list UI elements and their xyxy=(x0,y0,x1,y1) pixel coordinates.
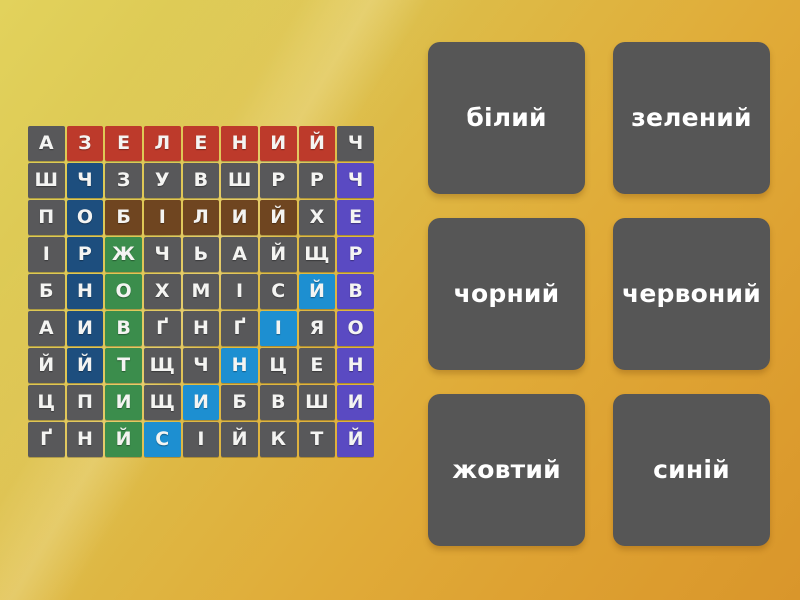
grid-cell-letter: О xyxy=(347,319,363,338)
grid-cell[interactable]: Й xyxy=(28,348,65,383)
grid-cell-letter: І xyxy=(159,208,166,227)
grid-cell[interactable]: Х xyxy=(144,274,181,309)
grid-cell[interactable]: В xyxy=(337,274,374,309)
grid-cell-letter: Ґ xyxy=(156,319,168,338)
grid-cell-letter: Щ xyxy=(150,356,175,375)
grid-cell-letter: Т xyxy=(310,430,323,449)
grid-cell-letter: Й xyxy=(309,282,325,301)
grid-cell-letter: Р xyxy=(349,245,363,264)
grid-cell[interactable]: Ч xyxy=(67,163,104,198)
grid-cell-letter: Р xyxy=(78,245,92,264)
grid-cell-letter: Л xyxy=(154,134,170,153)
grid-cell[interactable]: Я xyxy=(299,311,336,346)
grid-cell[interactable]: Н xyxy=(221,348,258,383)
grid-cell[interactable]: Й xyxy=(67,348,104,383)
word-card-label: чорний xyxy=(454,280,560,308)
grid-cell[interactable]: Б xyxy=(105,200,142,235)
grid-cell-letter: Ш xyxy=(305,393,329,412)
grid-cell-letter: А xyxy=(39,134,54,153)
grid-cell-letter: П xyxy=(38,208,54,227)
grid-cell[interactable]: Й xyxy=(337,422,374,457)
grid-cell[interactable]: Й xyxy=(221,422,258,457)
word-card[interactable]: білий xyxy=(428,42,585,194)
grid-cell-letter: Е xyxy=(349,208,362,227)
grid-cell-letter: К xyxy=(270,430,286,449)
grid-cell-letter: В xyxy=(271,393,286,412)
grid-cell-letter: Р xyxy=(310,171,324,190)
grid-cell-letter: Н xyxy=(348,356,364,375)
grid-cell[interactable]: П xyxy=(28,200,65,235)
grid-cell[interactable]: Ч xyxy=(337,163,374,198)
grid-cell[interactable]: И xyxy=(183,385,220,420)
grid-cell[interactable]: О xyxy=(337,311,374,346)
grid-cell-letter: Ґ xyxy=(40,430,52,449)
grid-cell[interactable]: В xyxy=(105,311,142,346)
grid-cell[interactable]: І xyxy=(183,422,220,457)
grid-cell-letter: З xyxy=(78,134,92,153)
grid-cell-letter: И xyxy=(77,319,93,338)
grid-cell[interactable]: М xyxy=(183,274,220,309)
grid-cell-letter: Х xyxy=(155,282,170,301)
word-card[interactable]: червоний xyxy=(613,218,770,370)
grid-cell[interactable]: Н xyxy=(183,311,220,346)
game-stage: АЗЕЛЕНИЙЧШЧЗУВШРРЧПОБІЛИЙХЕІРЖЧЬАЙЩРБНОХ… xyxy=(0,0,800,600)
grid-cell-letter: О xyxy=(115,282,131,301)
grid-cell-letter: Ч xyxy=(77,171,93,190)
grid-cell-letter: Е xyxy=(310,356,323,375)
grid-cell-letter: І xyxy=(43,245,50,264)
grid-cell[interactable]: Е xyxy=(183,126,220,161)
grid-cell[interactable]: Т xyxy=(105,348,142,383)
grid-cell[interactable]: В xyxy=(183,163,220,198)
grid-cell[interactable]: Й xyxy=(299,126,336,161)
grid-cell-letter: В xyxy=(348,282,363,301)
grid-cell-letter: І xyxy=(275,319,282,338)
grid-cell[interactable]: Б xyxy=(221,385,258,420)
grid-cell[interactable]: А xyxy=(28,126,65,161)
grid-cell-letter: Р xyxy=(271,171,285,190)
word-card[interactable]: жовтий xyxy=(428,394,585,546)
grid-cell[interactable]: Р xyxy=(260,163,297,198)
word-search-panel: АЗЕЛЕНИЙЧШЧЗУВШРРЧПОБІЛИЙХЕІРЖЧЬАЙЩРБНОХ… xyxy=(28,126,374,457)
grid-cell[interactable]: Е xyxy=(299,348,336,383)
grid-cell-letter: Е xyxy=(117,134,130,153)
grid-cell[interactable]: Й xyxy=(299,274,336,309)
grid-cell-letter: Ц xyxy=(269,356,287,375)
word-card-label: синій xyxy=(653,456,730,484)
grid-cell-letter: Ч xyxy=(155,245,171,264)
grid-cell-letter: Х xyxy=(310,208,325,227)
letter-grid[interactable]: АЗЕЛЕНИЙЧШЧЗУВШРРЧПОБІЛИЙХЕІРЖЧЬАЙЩРБНОХ… xyxy=(28,126,374,457)
grid-cell[interactable]: Т xyxy=(299,422,336,457)
grid-cell-letter: Й xyxy=(270,208,286,227)
grid-cell[interactable]: Р xyxy=(67,237,104,272)
grid-cell[interactable]: И xyxy=(260,126,297,161)
grid-cell[interactable]: І xyxy=(221,274,258,309)
grid-cell-letter: И xyxy=(270,134,286,153)
grid-cell-letter: В xyxy=(194,171,209,190)
grid-cell-letter: И xyxy=(232,208,248,227)
grid-cell[interactable]: С xyxy=(260,274,297,309)
grid-cell[interactable]: Й xyxy=(260,200,297,235)
grid-cell-letter: Н xyxy=(77,282,93,301)
grid-cell-letter: Ш xyxy=(228,171,252,190)
grid-cell[interactable]: Р xyxy=(337,237,374,272)
grid-cell[interactable]: Ґ xyxy=(144,311,181,346)
grid-cell-letter: И xyxy=(348,393,364,412)
grid-cell-letter: І xyxy=(236,282,243,301)
word-card-label: жовтий xyxy=(452,456,561,484)
grid-cell-letter: Е xyxy=(194,134,207,153)
grid-cell[interactable]: Ш xyxy=(221,163,258,198)
grid-cell-letter: Й xyxy=(232,430,248,449)
grid-cell[interactable]: И xyxy=(221,200,258,235)
grid-cell-letter: И xyxy=(116,393,132,412)
grid-cell[interactable]: Ч xyxy=(337,126,374,161)
grid-cell-letter: С xyxy=(155,430,169,449)
grid-cell[interactable]: Е xyxy=(105,126,142,161)
grid-cell[interactable]: О xyxy=(67,200,104,235)
grid-cell[interactable]: З xyxy=(67,126,104,161)
word-card-label: білий xyxy=(466,104,546,132)
grid-cell[interactable]: Ч xyxy=(183,348,220,383)
grid-cell[interactable]: Н xyxy=(67,422,104,457)
grid-cell-letter: И xyxy=(193,393,209,412)
grid-cell-letter: Ч xyxy=(193,356,209,375)
grid-cell-letter: Ш xyxy=(34,171,58,190)
grid-cell[interactable]: Е xyxy=(337,200,374,235)
grid-cell-letter: Н xyxy=(232,356,248,375)
grid-cell-letter: Ц xyxy=(37,393,55,412)
grid-cell[interactable]: З xyxy=(105,163,142,198)
grid-cell[interactable]: Щ xyxy=(299,237,336,272)
grid-cell[interactable]: Ґ xyxy=(28,422,65,457)
grid-cell-letter: Л xyxy=(193,208,209,227)
grid-cell[interactable]: А xyxy=(28,311,65,346)
grid-cell[interactable]: И xyxy=(337,385,374,420)
grid-cell[interactable]: Ш xyxy=(299,385,336,420)
grid-cell[interactable]: И xyxy=(105,385,142,420)
grid-cell-letter: Щ xyxy=(150,393,175,412)
grid-cell-letter: О xyxy=(77,208,93,227)
grid-cell[interactable]: Ч xyxy=(144,237,181,272)
grid-cell[interactable]: Ж xyxy=(105,237,142,272)
grid-cell-letter: Н xyxy=(193,319,209,338)
grid-cell-letter: В xyxy=(116,319,131,338)
grid-cell-letter: Щ xyxy=(304,245,329,264)
grid-cell[interactable]: Н xyxy=(337,348,374,383)
grid-cell[interactable]: Ц xyxy=(28,385,65,420)
grid-cell[interactable]: А xyxy=(221,237,258,272)
grid-cell[interactable]: Р xyxy=(299,163,336,198)
grid-cell[interactable]: Л xyxy=(144,126,181,161)
word-cards-panel: білийзеленийчорнийчервонийжовтийсиній xyxy=(428,42,770,562)
word-card[interactable]: чорний xyxy=(428,218,585,370)
grid-cell[interactable]: И xyxy=(67,311,104,346)
grid-cell-letter: Й xyxy=(38,356,54,375)
grid-cell-letter: З xyxy=(117,171,131,190)
grid-cell[interactable]: Й xyxy=(260,237,297,272)
grid-cell-letter: С xyxy=(271,282,285,301)
grid-cell[interactable]: С xyxy=(144,422,181,457)
grid-cell-letter: А xyxy=(232,245,247,264)
grid-cell-letter: Ч xyxy=(348,134,364,153)
grid-cell-letter: Й xyxy=(270,245,286,264)
grid-cell[interactable]: Щ xyxy=(144,348,181,383)
grid-cell-letter: Н xyxy=(232,134,248,153)
word-card-label: зелений xyxy=(631,104,751,132)
grid-cell-letter: Й xyxy=(309,134,325,153)
grid-cell-letter: Ч xyxy=(348,171,364,190)
grid-cell-letter: Й xyxy=(116,430,132,449)
grid-cell[interactable]: Н xyxy=(67,274,104,309)
grid-cell-letter: Й xyxy=(348,430,364,449)
grid-cell-letter: У xyxy=(155,171,170,190)
word-card[interactable]: зелений xyxy=(613,42,770,194)
grid-cell-letter: Я xyxy=(310,319,325,338)
grid-cell[interactable]: Ц xyxy=(260,348,297,383)
grid-cell-letter: Ж xyxy=(112,245,135,264)
grid-cell[interactable]: Ь xyxy=(183,237,220,272)
grid-cell[interactable]: Х xyxy=(299,200,336,235)
word-card-label: червоний xyxy=(622,280,761,308)
grid-cell-letter: І xyxy=(197,430,204,449)
grid-cell-letter: Ь xyxy=(194,245,209,264)
grid-cell-letter: Ґ xyxy=(234,319,246,338)
grid-cell-letter: М xyxy=(191,282,210,301)
grid-cell-letter: Б xyxy=(116,208,131,227)
grid-cell[interactable]: Н xyxy=(221,126,258,161)
grid-cell[interactable]: О xyxy=(105,274,142,309)
grid-cell[interactable]: Ш xyxy=(28,163,65,198)
grid-cell[interactable]: Ґ xyxy=(221,311,258,346)
grid-cell[interactable]: В xyxy=(260,385,297,420)
grid-cell[interactable]: І xyxy=(144,200,181,235)
grid-cell[interactable]: Щ xyxy=(144,385,181,420)
grid-cell[interactable]: Л xyxy=(183,200,220,235)
grid-cell-letter: Н xyxy=(77,430,93,449)
grid-cell[interactable]: К xyxy=(260,422,297,457)
grid-cell-letter: Б xyxy=(232,393,247,412)
grid-cell-letter: П xyxy=(77,393,93,412)
grid-cell-letter: Б xyxy=(39,282,54,301)
grid-cell[interactable]: Б xyxy=(28,274,65,309)
grid-cell[interactable]: П xyxy=(67,385,104,420)
grid-cell-letter: Т xyxy=(117,356,130,375)
grid-cell[interactable]: І xyxy=(260,311,297,346)
grid-cell-letter: Й xyxy=(77,356,93,375)
grid-cell[interactable]: Й xyxy=(105,422,142,457)
grid-cell[interactable]: У xyxy=(144,163,181,198)
grid-cell-letter: А xyxy=(39,319,54,338)
grid-cell[interactable]: І xyxy=(28,237,65,272)
word-card[interactable]: синій xyxy=(613,394,770,546)
